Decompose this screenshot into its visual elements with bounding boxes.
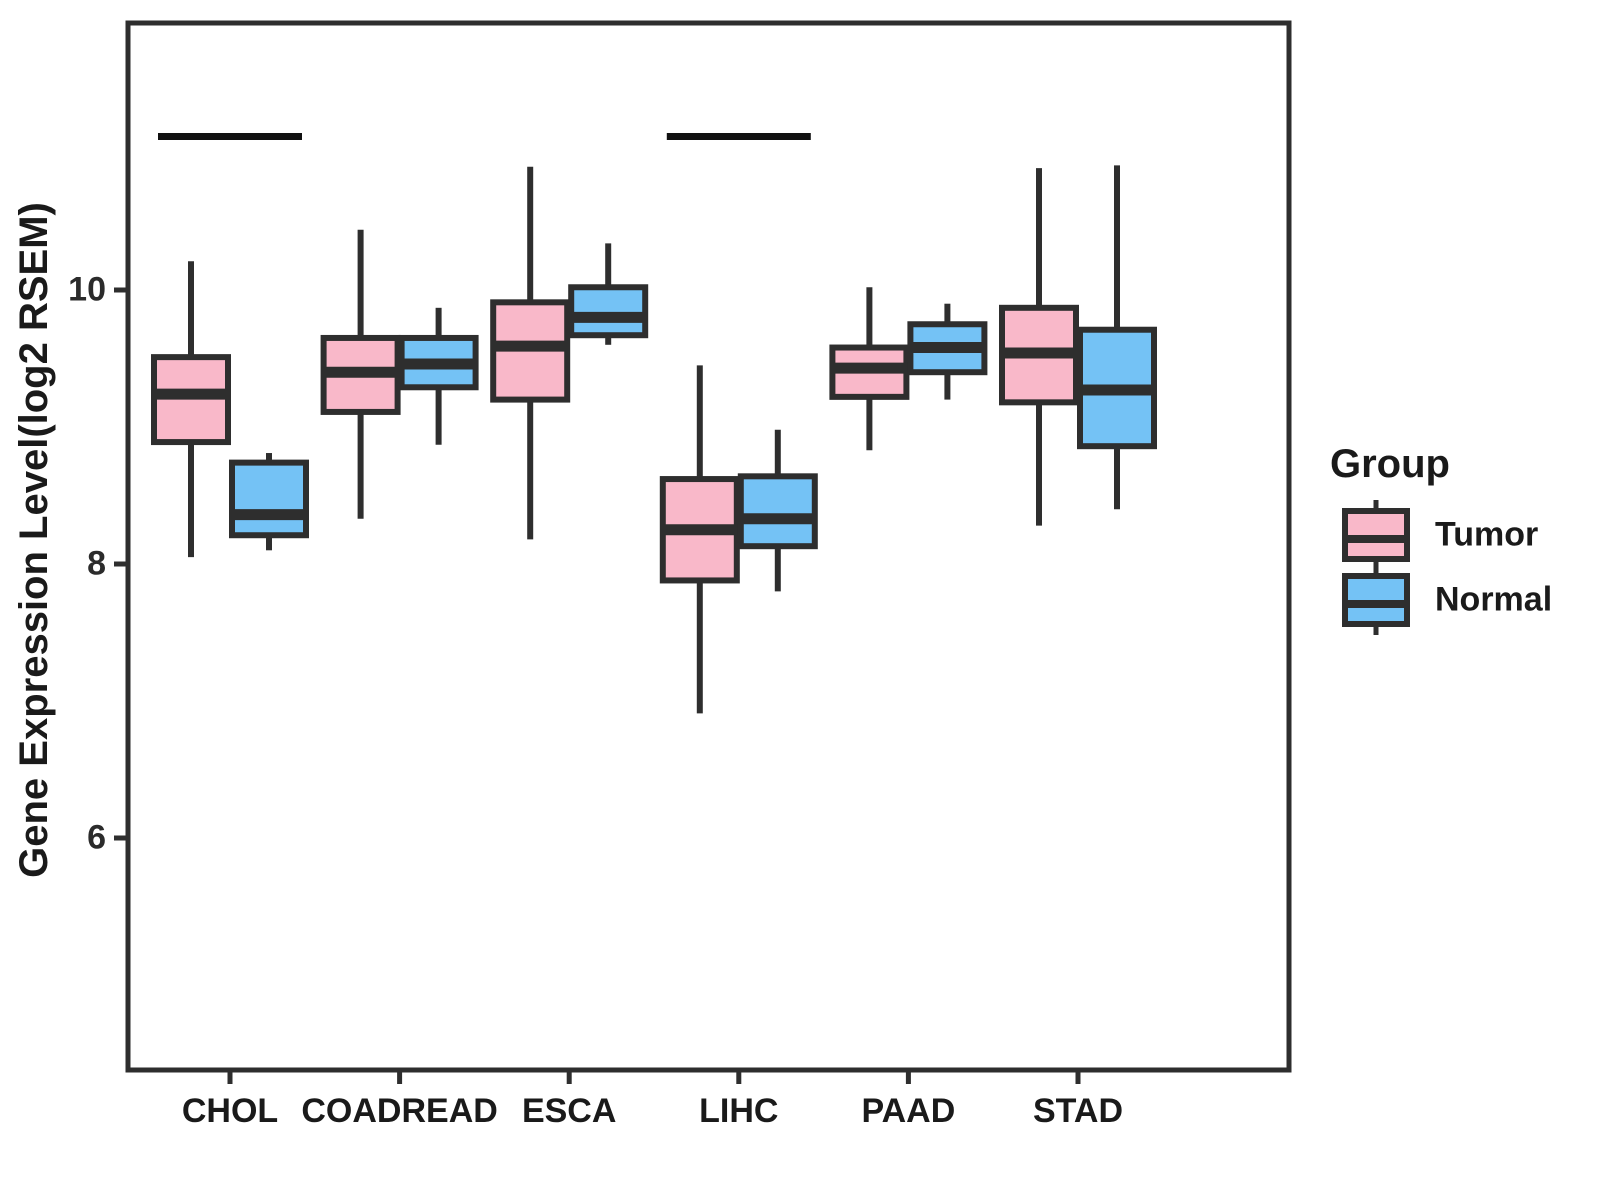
legend-label-normal: Normal (1435, 581, 1552, 620)
box-rect (571, 287, 645, 335)
legend-label-tumor: Tumor (1435, 516, 1538, 555)
legend-key-normal[interactable] (1345, 565, 1407, 635)
legend-title: Group (1330, 442, 1450, 487)
box-rect (741, 476, 815, 546)
plot-area (0, 0, 1600, 1200)
box-rect (232, 463, 306, 536)
boxplot-figure: Gene Expression Level(log2 RSEM) 6810 CH… (0, 0, 1600, 1200)
box-chol-normal (231, 453, 307, 550)
legend-key-tumor[interactable] (1345, 500, 1407, 570)
